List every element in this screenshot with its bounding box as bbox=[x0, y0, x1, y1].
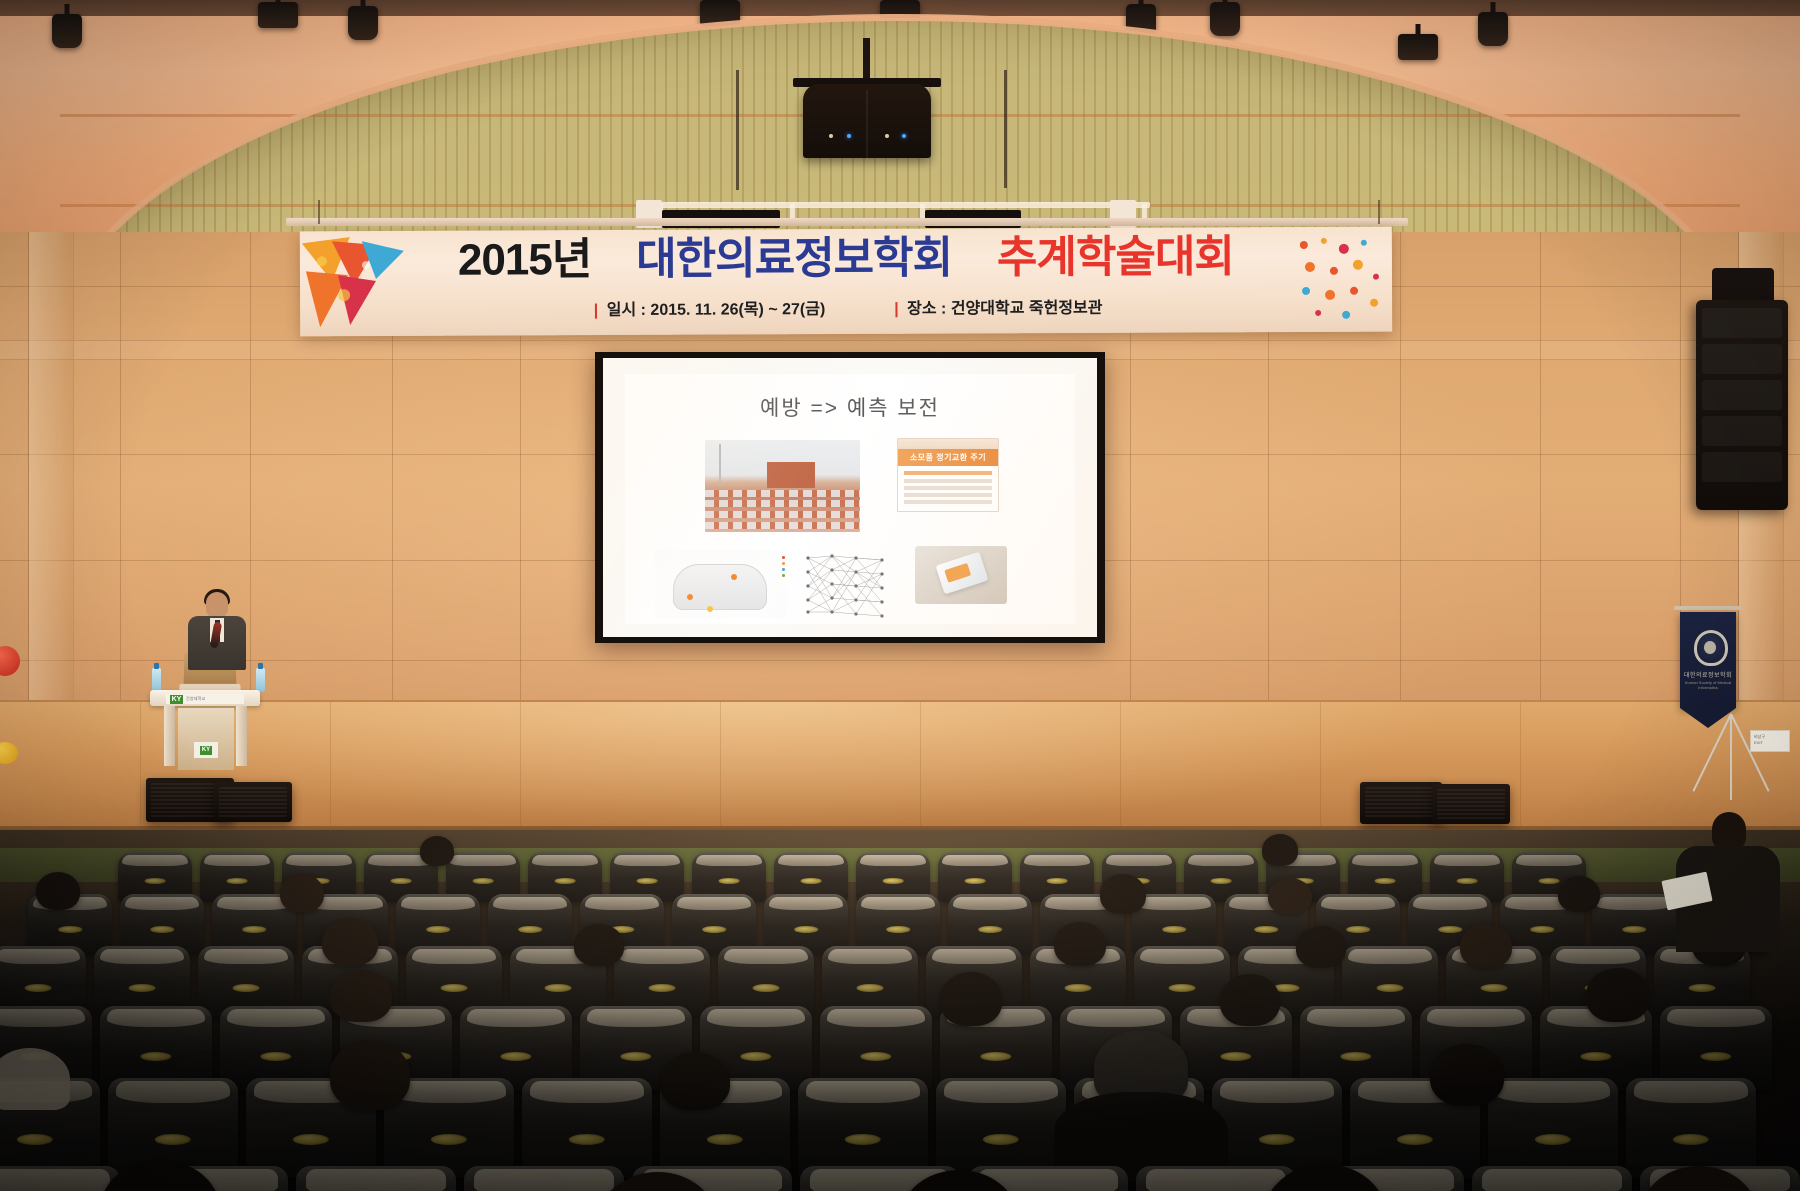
audience-head bbox=[330, 1040, 410, 1110]
auditorium-seat bbox=[948, 894, 1032, 954]
banner-date-label: 일시 bbox=[607, 302, 637, 319]
auditorium-seat bbox=[672, 894, 756, 954]
audience-head bbox=[1712, 812, 1746, 850]
auditorium-seat bbox=[1212, 1078, 1342, 1178]
presenter bbox=[186, 592, 248, 668]
audience-head bbox=[322, 918, 378, 966]
audience-head bbox=[1460, 924, 1512, 968]
auditorium-seat bbox=[764, 894, 848, 954]
speaker-mount-rod bbox=[863, 38, 870, 80]
lectern: KY 건양대학교 KY bbox=[150, 690, 260, 772]
pennant-rod bbox=[1674, 606, 1742, 610]
audience-area bbox=[0, 830, 1800, 1191]
lectern-university-label: 건양대학교 bbox=[186, 696, 205, 702]
projection-screen-frame: 예방 => 예측 보전 소모품 정기교환 주기 bbox=[595, 352, 1105, 643]
stage-left-decoration bbox=[0, 660, 28, 756]
exit-sign-line2: EXIT bbox=[1754, 740, 1786, 746]
water-bottle bbox=[152, 668, 161, 692]
auditorium-seat bbox=[936, 1078, 1066, 1178]
audience-head bbox=[330, 970, 392, 1022]
side-speaker-stack bbox=[1696, 300, 1788, 510]
audience-head bbox=[280, 874, 324, 912]
banner-sep-1: | bbox=[594, 302, 599, 319]
auditorium-seat bbox=[798, 1078, 928, 1178]
auditorium-seat bbox=[1136, 1166, 1296, 1191]
lectern-body bbox=[178, 708, 234, 770]
slide-image-vehicle-diagram bbox=[655, 550, 787, 618]
auditorium-seat bbox=[1472, 1166, 1632, 1191]
society-emblem-icon bbox=[1694, 630, 1728, 666]
banner-place-value: 건양대학교 죽헌정보관 bbox=[951, 300, 1103, 318]
wall-pillar bbox=[28, 232, 74, 702]
auditorium-seat bbox=[488, 894, 572, 954]
ky-logo-icon: KY bbox=[200, 746, 212, 755]
slide-image-mobile-device bbox=[915, 546, 1007, 604]
slide-title: 예방 => 예측 보전 bbox=[625, 392, 1075, 422]
projection-screen: 예방 => 예측 보전 소모품 정기교환 주기 bbox=[603, 358, 1097, 637]
audience-head bbox=[1054, 922, 1106, 966]
auditorium-seat bbox=[1626, 1078, 1756, 1178]
auditorium-seat bbox=[396, 894, 480, 954]
audience-fur-coat bbox=[0, 1048, 70, 1110]
stage-monitor-speaker bbox=[1432, 784, 1510, 824]
banner-title: 2015년 대한의료정보학회 추계학술대회 bbox=[300, 233, 1392, 285]
banner-year: 2015년 bbox=[458, 235, 592, 285]
audience-head bbox=[660, 1052, 730, 1110]
audience-head bbox=[1100, 874, 1146, 914]
banner-date-value: 2015. 11. 26(목) ~ 27(금) bbox=[650, 301, 825, 319]
audience-head bbox=[420, 836, 454, 866]
side-speaker-top bbox=[1712, 268, 1774, 304]
audience-head bbox=[1558, 876, 1600, 912]
catwalk-rail bbox=[650, 202, 1150, 208]
auditorium-seat bbox=[120, 894, 204, 954]
auditorium-seat bbox=[1488, 1078, 1618, 1178]
pennant-subtitle: Korean Society of Medical Informatics bbox=[1680, 680, 1736, 690]
auditorium-seat bbox=[856, 894, 940, 954]
auditorium-seat bbox=[1592, 894, 1676, 954]
banner-sep-2: | bbox=[894, 301, 899, 318]
audience-head bbox=[1430, 1044, 1504, 1106]
banner-subtitle: | 일시 : 2015. 11. 26(목) ~ 27(금) | 장소 : 건양… bbox=[300, 293, 1392, 322]
stage-monitor-speaker bbox=[214, 782, 292, 822]
auditorium-seat bbox=[296, 1166, 456, 1191]
banner-organization: 대한의료정보학회 bbox=[636, 234, 952, 284]
event-banner: 2015년 대한의료정보학회 추계학술대회 | 일시 : 2015. 11. 2… bbox=[300, 227, 1392, 337]
audience-head bbox=[1220, 974, 1280, 1026]
auditorium-seat bbox=[522, 1078, 652, 1178]
slide-image-car-yard bbox=[705, 440, 860, 532]
lectern-front-logo: KY bbox=[194, 742, 218, 758]
audience-head bbox=[1586, 968, 1650, 1022]
speaker-cable bbox=[736, 70, 739, 190]
slide-poster-caption: 소모품 정기교환 주기 bbox=[898, 449, 998, 466]
speaker-cable bbox=[1004, 70, 1007, 188]
slide-image-consumables-poster: 소모품 정기교환 주기 bbox=[897, 438, 999, 512]
slide-image-neural-network bbox=[800, 550, 896, 618]
banner-place-label: 장소 bbox=[907, 301, 937, 318]
banner-event-name: 추계학술대회 bbox=[997, 232, 1234, 282]
audience-head bbox=[1296, 926, 1346, 968]
auditorium-seat bbox=[464, 1166, 624, 1191]
exit-sign: 비상구 EXIT bbox=[1750, 730, 1790, 752]
auditorium-photo-scene: 2015년 대한의료정보학회 추계학술대회 | 일시 : 2015. 11. 2… bbox=[0, 0, 1800, 1191]
lectern-logo-band: KY 건양대학교 bbox=[166, 694, 244, 704]
presentation-slide: 예방 => 예측 보전 소모품 정기교환 주기 bbox=[625, 374, 1075, 624]
water-bottle bbox=[256, 668, 265, 692]
audience-member-right bbox=[1672, 812, 1782, 952]
banner-rail bbox=[286, 218, 1408, 226]
pennant-society-name: 대한의료정보학회 bbox=[1680, 670, 1736, 679]
audience-head bbox=[940, 972, 1002, 1026]
auditorium-seat bbox=[0, 1166, 120, 1191]
audience-head bbox=[1262, 834, 1298, 866]
presenter-head bbox=[206, 592, 228, 618]
ceiling-speaker-cluster bbox=[803, 84, 931, 158]
audience-head bbox=[36, 872, 80, 910]
audience-head bbox=[574, 924, 624, 966]
stage-monitor-speaker bbox=[1360, 782, 1442, 824]
ky-logo-icon: KY bbox=[170, 695, 183, 704]
audience-head bbox=[1268, 878, 1312, 914]
